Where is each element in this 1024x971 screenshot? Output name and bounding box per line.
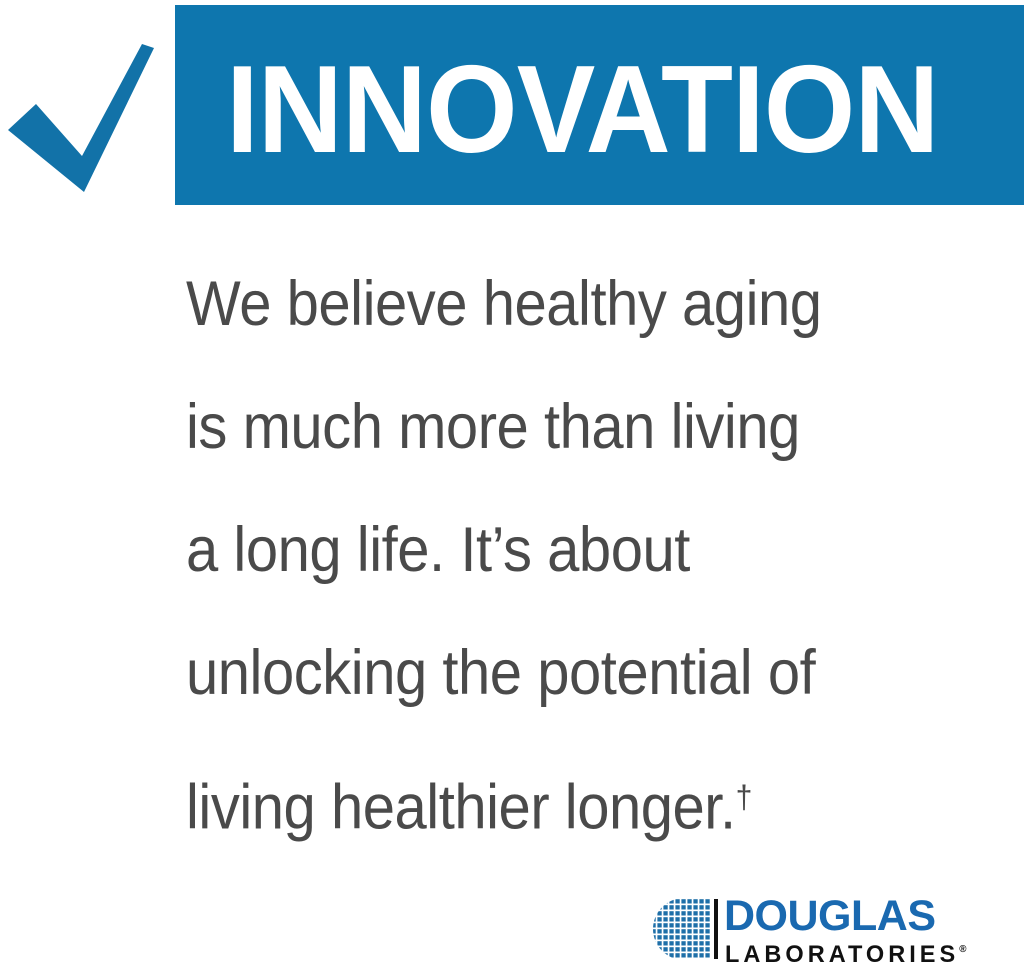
logo-subbrand-text: LABORATORIES (725, 941, 959, 968)
headline-banner: INNOVATION (175, 5, 1024, 205)
logo-wordmark: DOUGLAS LABORATORIES® (724, 897, 980, 963)
logo-subbrand-row: LABORATORIES® (725, 938, 966, 967)
body-copy: We believe healthy aging is much more th… (186, 243, 966, 869)
halftone-c-mark-icon (650, 898, 710, 960)
copy-line-5-text: living healthier longer. (186, 772, 736, 842)
header-band: INNOVATION (0, 0, 1024, 212)
copy-line-1: We believe healthy aging (186, 243, 904, 366)
copy-line-5: living healthier longer.† (186, 735, 904, 869)
copy-line-3: a long life. It’s about (186, 489, 904, 612)
registered-trademark-icon: ® (959, 944, 966, 955)
page-title: INNOVATION (226, 55, 948, 165)
copy-line-4: unlocking the potential of (186, 612, 904, 735)
copy-line-2: is much more than living (186, 366, 904, 489)
logo-divider (714, 899, 718, 959)
douglas-laboratories-logo: DOUGLAS LABORATORIES® (650, 897, 980, 963)
logo-brand-text: DOUGLAS (724, 895, 936, 938)
check-icon (2, 22, 162, 198)
footnote-dagger: † (736, 778, 753, 815)
